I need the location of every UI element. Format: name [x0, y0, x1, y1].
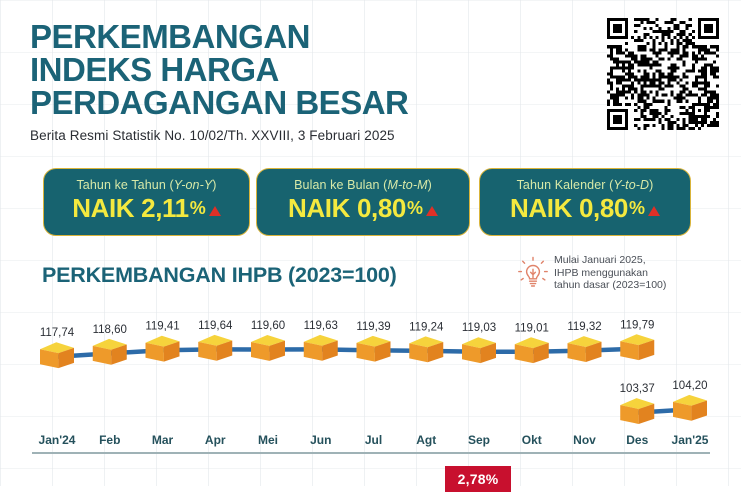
stat-card-yoy[interactable]: Tahun ke Tahun (Y-on-Y) NAIK 2,11 %	[43, 168, 250, 236]
qr-code[interactable]	[607, 18, 719, 130]
stat-card-yoy-label-abbr: Y-on-Y	[174, 178, 213, 192]
header: PERKEMBANGAN INDEKS HARGA PERDAGANGAN BE…	[30, 20, 590, 143]
chart-point-label: 119,41	[145, 321, 179, 333]
chart-point-label: 119,24	[409, 321, 444, 333]
x-axis-label: Okt	[522, 433, 542, 447]
x-axis-label: Des	[626, 433, 648, 447]
stat-card-yoy-percent: %	[190, 198, 206, 219]
stat-card-ytd-percent: %	[629, 198, 645, 219]
stat-card-ytd-label-abbr: Y-to-D	[613, 178, 649, 192]
stat-card-ytd-label-close: )	[649, 178, 653, 192]
stat-card-yoy-label-close: )	[212, 178, 216, 192]
chart-point-label: 103,37	[620, 383, 655, 395]
ihpb-chart: 117,74118,60119,41119,64119,60119,63119,…	[0, 300, 741, 450]
chart-point-label: 119,63	[304, 320, 338, 332]
x-axis-label: Mar	[152, 433, 174, 447]
chart-cube-marker	[462, 337, 496, 363]
page-title-line-3: PERDAGANGAN BESAR	[30, 86, 590, 119]
chart-cube-marker	[198, 335, 232, 361]
chart-point-label: 119,64	[198, 320, 233, 332]
stat-card-mtm-value-row: NAIK 0,80 %	[288, 193, 438, 224]
chart-point-label: 119,32	[567, 321, 601, 333]
stat-card-ytd-label: Tahun Kalender (Y-to-D)	[517, 178, 654, 192]
trend-up-icon	[426, 206, 438, 216]
base-year-note-text: Mulai Januari 2025, IHPB menggunakan tah…	[554, 254, 666, 292]
lightbulb-icon	[518, 256, 548, 290]
chart-cube-marker	[357, 336, 391, 362]
note-line-1: Mulai Januari 2025,	[554, 254, 666, 267]
trend-up-icon	[209, 206, 221, 216]
base-year-note: Mulai Januari 2025, IHPB menggunakan tah…	[518, 254, 733, 292]
stat-card-yoy-value-row: NAIK 2,11 %	[72, 193, 221, 224]
stat-card-yoy-value: 2,11	[141, 193, 189, 224]
x-axis-label: Sep	[468, 433, 490, 447]
stat-card-yoy-label: Tahun ke Tahun (Y-on-Y)	[76, 178, 216, 192]
chart-title: PERKEMBANGAN IHPB (2023=100)	[42, 263, 397, 288]
x-axis-line	[32, 452, 710, 454]
chart-point-label: 119,60	[251, 320, 285, 332]
x-axis-label: Nov	[573, 433, 596, 447]
note-line-3: tahun dasar (2023=100)	[554, 279, 666, 292]
x-axis-label: Mei	[258, 433, 278, 447]
chart-point-label: 119,79	[620, 319, 654, 331]
ihpb-chart-svg: 117,74118,60119,41119,64119,60119,63119,…	[0, 300, 741, 450]
x-axis-label: Jan'24	[39, 433, 76, 447]
stat-card-mtm-label-abbr: M-to-M	[387, 178, 427, 192]
qr-code-canvas	[607, 18, 719, 130]
chart-cube-marker	[146, 336, 180, 362]
x-axis-label: Feb	[99, 433, 120, 447]
stat-card-mtm-label-close: )	[428, 178, 432, 192]
chart-cube-marker	[568, 336, 602, 362]
page-subtitle: Berita Resmi Statistik No. 10/02/Th. XXV…	[30, 128, 590, 143]
x-axis-label: Jul	[365, 433, 382, 447]
stat-card-ytd-status: NAIK	[510, 193, 572, 224]
chart-point-label: 117,74	[40, 327, 75, 339]
stat-card-ytd[interactable]: Tahun Kalender (Y-to-D) NAIK 0,80 %	[479, 168, 691, 236]
chart-cube-marker	[620, 334, 654, 360]
chart-point-label: 119,39	[356, 321, 390, 333]
bottom-percent-value: 2,78%	[458, 471, 499, 487]
chart-point-label: 118,60	[93, 324, 127, 336]
stat-card-ytd-value: 0,80	[579, 193, 628, 224]
stat-card-mtm-label: Bulan ke Bulan (M-to-M)	[294, 178, 432, 192]
chart-cube-marker	[673, 395, 707, 421]
chart-cube-marker	[515, 337, 549, 363]
stat-card-ytd-label-text: Tahun Kalender (	[517, 178, 614, 192]
stat-card-yoy-status: NAIK	[72, 193, 134, 224]
chart-cube-marker	[251, 335, 285, 361]
chart-cube-marker	[40, 342, 74, 368]
x-axis-label: Agt	[416, 433, 436, 447]
stat-card-ytd-value-row: NAIK 0,80 %	[510, 193, 660, 224]
page-title-line-2: INDEKS HARGA	[30, 53, 590, 86]
chart-cube-marker	[620, 398, 654, 424]
bottom-percent-badge: 2,78%	[445, 466, 511, 492]
infographic-root: PERKEMBANGAN INDEKS HARGA PERDAGANGAN BE…	[0, 0, 741, 486]
stat-card-mtm-value: 0,80	[357, 193, 406, 224]
stat-card-group: Tahun ke Tahun (Y-on-Y) NAIK 2,11 % Bula…	[38, 168, 703, 238]
note-line-2: IHPB menggunakan	[554, 267, 666, 280]
page-title-line-1: PERKEMBANGAN	[30, 20, 590, 53]
chart-cube-marker	[304, 335, 338, 361]
chart-cube-marker	[93, 339, 127, 365]
chart-point-label: 119,03	[462, 322, 496, 334]
stat-card-mtm[interactable]: Bulan ke Bulan (M-to-M) NAIK 0,80 %	[256, 168, 470, 236]
x-axis-label: Apr	[205, 433, 226, 447]
chart-point-label: 119,01	[515, 322, 549, 334]
stat-card-mtm-label-text: Bulan ke Bulan (	[294, 178, 387, 192]
stat-card-mtm-status: NAIK	[288, 193, 350, 224]
x-axis-label: Jan'25	[672, 433, 709, 447]
trend-up-icon	[648, 206, 660, 216]
x-axis-label: Jun	[310, 433, 331, 447]
stat-card-yoy-label-text: Tahun ke Tahun (	[76, 178, 173, 192]
chart-cube-marker	[409, 336, 443, 362]
page-title: PERKEMBANGAN INDEKS HARGA PERDAGANGAN BE…	[30, 20, 590, 119]
chart-point-label: 104,20	[672, 380, 707, 392]
stat-card-mtm-percent: %	[407, 198, 423, 219]
